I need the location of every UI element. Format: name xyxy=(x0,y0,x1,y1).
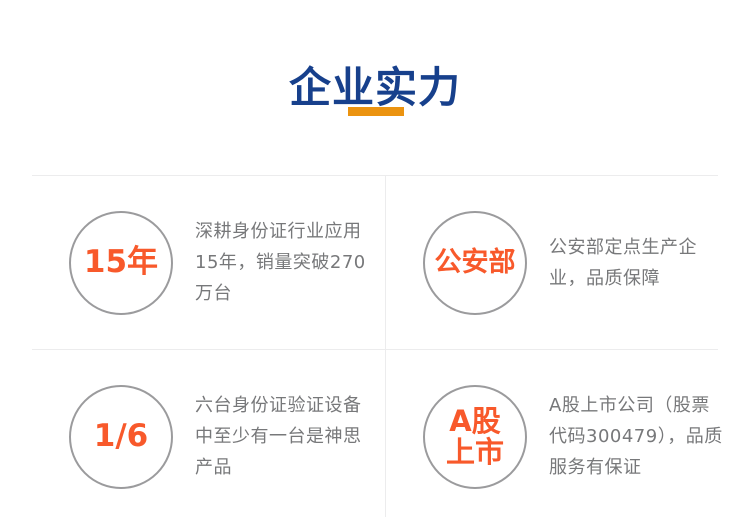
strength-card-description-2: 公安部定点生产企业，品质保障 xyxy=(549,232,725,294)
section-header: 企业实力 xyxy=(0,62,750,114)
strength-card-3: 1/6 六台身份证验证设备中至少有一台是神思产品 xyxy=(32,350,385,523)
strength-grid: 15年 深耕身份证行业应用15年，销量突破270万台 公安部 公安部定点生产企业… xyxy=(32,175,718,516)
badge-circle-3: 1/6 xyxy=(69,385,173,489)
title-underline-accent xyxy=(348,107,404,116)
badge-label-line-1: 公安部 xyxy=(435,248,516,277)
badge-circle-1: 15年 xyxy=(69,211,173,315)
badge-circle-4: A股 上市 xyxy=(423,385,527,489)
page-title-text: 企业实力 xyxy=(289,63,461,112)
strength-card-description-1: 深耕身份证行业应用15年，销量突破270万台 xyxy=(195,216,371,309)
strength-card-4: A股 上市 A股上市公司（股票代码300479），品质服务有保证 xyxy=(386,350,739,523)
badge-circle-2: 公安部 xyxy=(423,211,527,315)
enterprise-strength-page: { "section": { "title": "企业实力", "title_c… xyxy=(0,0,750,516)
badge-label-line-1: 15年 xyxy=(84,246,158,279)
badge-label-line-1: 1/6 xyxy=(94,420,148,453)
strength-card-description-3: 六台身份证验证设备中至少有一台是神思产品 xyxy=(195,390,371,483)
strength-card-description-4: A股上市公司（股票代码300479），品质服务有保证 xyxy=(549,390,725,483)
badge-label-line-2: 上市 xyxy=(446,437,504,468)
badge-label-line-1: A股 xyxy=(449,406,500,437)
page-title: 企业实力 xyxy=(289,62,461,114)
strength-card-1: 15年 深耕身份证行业应用15年，销量突破270万台 xyxy=(32,176,385,349)
strength-card-2: 公安部 公安部定点生产企业，品质保障 xyxy=(386,176,739,349)
